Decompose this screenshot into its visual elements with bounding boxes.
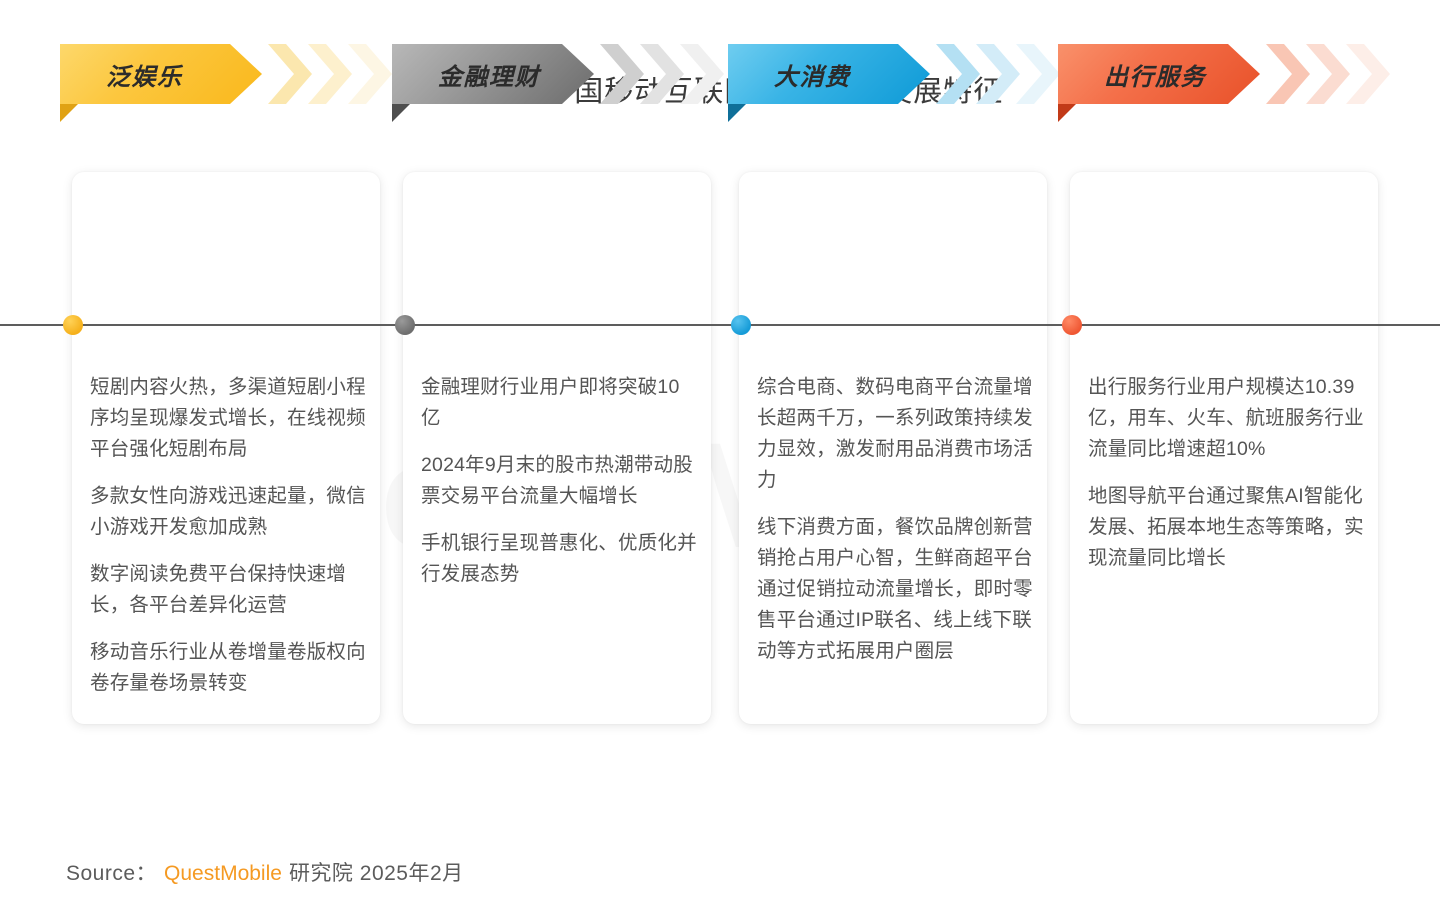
category-card-group: 短剧内容火热，多渠道短剧小程序均呈现爆发式增长，在线视频平台强化短剧布局 多款女… xyxy=(0,172,1440,724)
banner-arrow-shape: 金融理财 xyxy=(392,44,594,104)
chevron-icon xyxy=(680,44,724,104)
card-paragraph: 2024年9月末的股市热潮带动股票交易平台流量大幅增长 xyxy=(421,450,697,512)
category-card-big-consumption[interactable]: 综合电商、数码电商平台流量增长超两千万，一系列政策持续发力显效，激发耐用品消费市… xyxy=(739,172,1047,724)
card-paragraph: 金融理财行业用户即将突破10亿 xyxy=(421,372,697,434)
chevron-icon xyxy=(1346,44,1390,104)
source-line: Source：QuestMobile研究院 2025年2月 xyxy=(66,857,464,887)
card-body: 金融理财行业用户即将突破10亿 2024年9月末的股市热潮带动股票交易平台流量大… xyxy=(421,372,697,590)
banner-label: 金融理财 xyxy=(392,57,540,92)
banner-label: 大消费 xyxy=(728,57,851,92)
timeline-dot-big-consumption xyxy=(731,315,751,335)
category-card-pan-entertainment[interactable]: 短剧内容火热，多渠道短剧小程序均呈现爆发式增长，在线视频平台强化短剧布局 多款女… xyxy=(72,172,380,724)
source-suffix: 研究院 2025年2月 xyxy=(289,862,464,885)
banner-label: 出行服务 xyxy=(1058,57,1206,92)
category-banner-big-consumption[interactable]: 大消费 xyxy=(728,44,1068,104)
source-brand: QuestMobile xyxy=(164,862,282,885)
chevron-icon xyxy=(1016,44,1060,104)
banner-fold-tail xyxy=(392,104,410,122)
card-paragraph: 数字阅读免费平台保持快速增长，各平台差异化运营 xyxy=(90,559,366,621)
banner-arrow-shape: 大消费 xyxy=(728,44,930,104)
category-banner-pan-entertainment[interactable]: 泛娱乐 xyxy=(60,44,400,104)
chevron-icon xyxy=(308,44,352,104)
card-body: 出行服务行业用户规模达10.39亿，用车、火车、航班服务行业流量同比增速超10%… xyxy=(1088,372,1364,574)
card-paragraph: 线下消费方面，餐饮品牌创新营销抢占用户心智，生鲜商超平台通过促销拉动流量增长，即… xyxy=(757,512,1033,667)
chevron-icon xyxy=(936,44,980,104)
banner-arrow-shape: 泛娱乐 xyxy=(60,44,262,104)
chevron-icon xyxy=(976,44,1020,104)
timeline-dot-pan-entertainment xyxy=(63,315,83,335)
chevron-icon xyxy=(1266,44,1310,104)
chevron-icon xyxy=(348,44,392,104)
category-card-travel-service[interactable]: 出行服务行业用户规模达10.39亿，用车、火车、航班服务行业流量同比增速超10%… xyxy=(1070,172,1378,724)
card-paragraph: 多款女性向游戏迅速起量，微信小游戏开发愈加成熟 xyxy=(90,481,366,543)
timeline-dot-travel-service xyxy=(1062,315,1082,335)
banner-fold-tail xyxy=(728,104,746,122)
category-banner-travel-service[interactable]: 出行服务 xyxy=(1058,44,1398,104)
category-banner-finance-wealth[interactable]: 金融理财 xyxy=(392,44,732,104)
chevron-icon xyxy=(268,44,312,104)
card-paragraph: 短剧内容火热，多渠道短剧小程序均呈现爆发式增长，在线视频平台强化短剧布局 xyxy=(90,372,366,465)
card-body: 综合电商、数码电商平台流量增长超两千万，一系列政策持续发力显效，激发耐用品消费市… xyxy=(757,372,1033,667)
banner-fold-tail xyxy=(60,104,78,122)
chevron-icon xyxy=(640,44,684,104)
timeline-axis xyxy=(0,324,1440,326)
category-card-finance-wealth[interactable]: 金融理财行业用户即将突破10亿 2024年9月末的股市热潮带动股票交易平台流量大… xyxy=(403,172,711,724)
card-paragraph: 地图导航平台通过聚焦AI智能化发展、拓展本地生态等策略，实现流量同比增长 xyxy=(1088,481,1364,574)
card-paragraph: 移动音乐行业从卷增量卷版权向卷存量卷场景转变 xyxy=(90,637,366,699)
banner-label: 泛娱乐 xyxy=(60,57,183,92)
card-paragraph: 手机银行呈现普惠化、优质化并行发展态势 xyxy=(421,528,697,590)
banner-arrow-shape: 出行服务 xyxy=(1058,44,1260,104)
chevron-icon xyxy=(1306,44,1350,104)
card-paragraph: 综合电商、数码电商平台流量增长超两千万，一系列政策持续发力显效，激发耐用品消费市… xyxy=(757,372,1033,496)
chevron-icon xyxy=(600,44,644,104)
source-prefix: Source： xyxy=(66,862,157,885)
infographic-page: QuestMobile 2024年 中国移动互联网 典型行业发展特征 短剧内容火… xyxy=(0,0,1440,912)
card-body: 短剧内容火热，多渠道短剧小程序均呈现爆发式增长，在线视频平台强化短剧布局 多款女… xyxy=(90,372,366,699)
timeline-dot-finance-wealth xyxy=(395,315,415,335)
card-paragraph: 出行服务行业用户规模达10.39亿，用车、火车、航班服务行业流量同比增速超10% xyxy=(1088,372,1364,465)
